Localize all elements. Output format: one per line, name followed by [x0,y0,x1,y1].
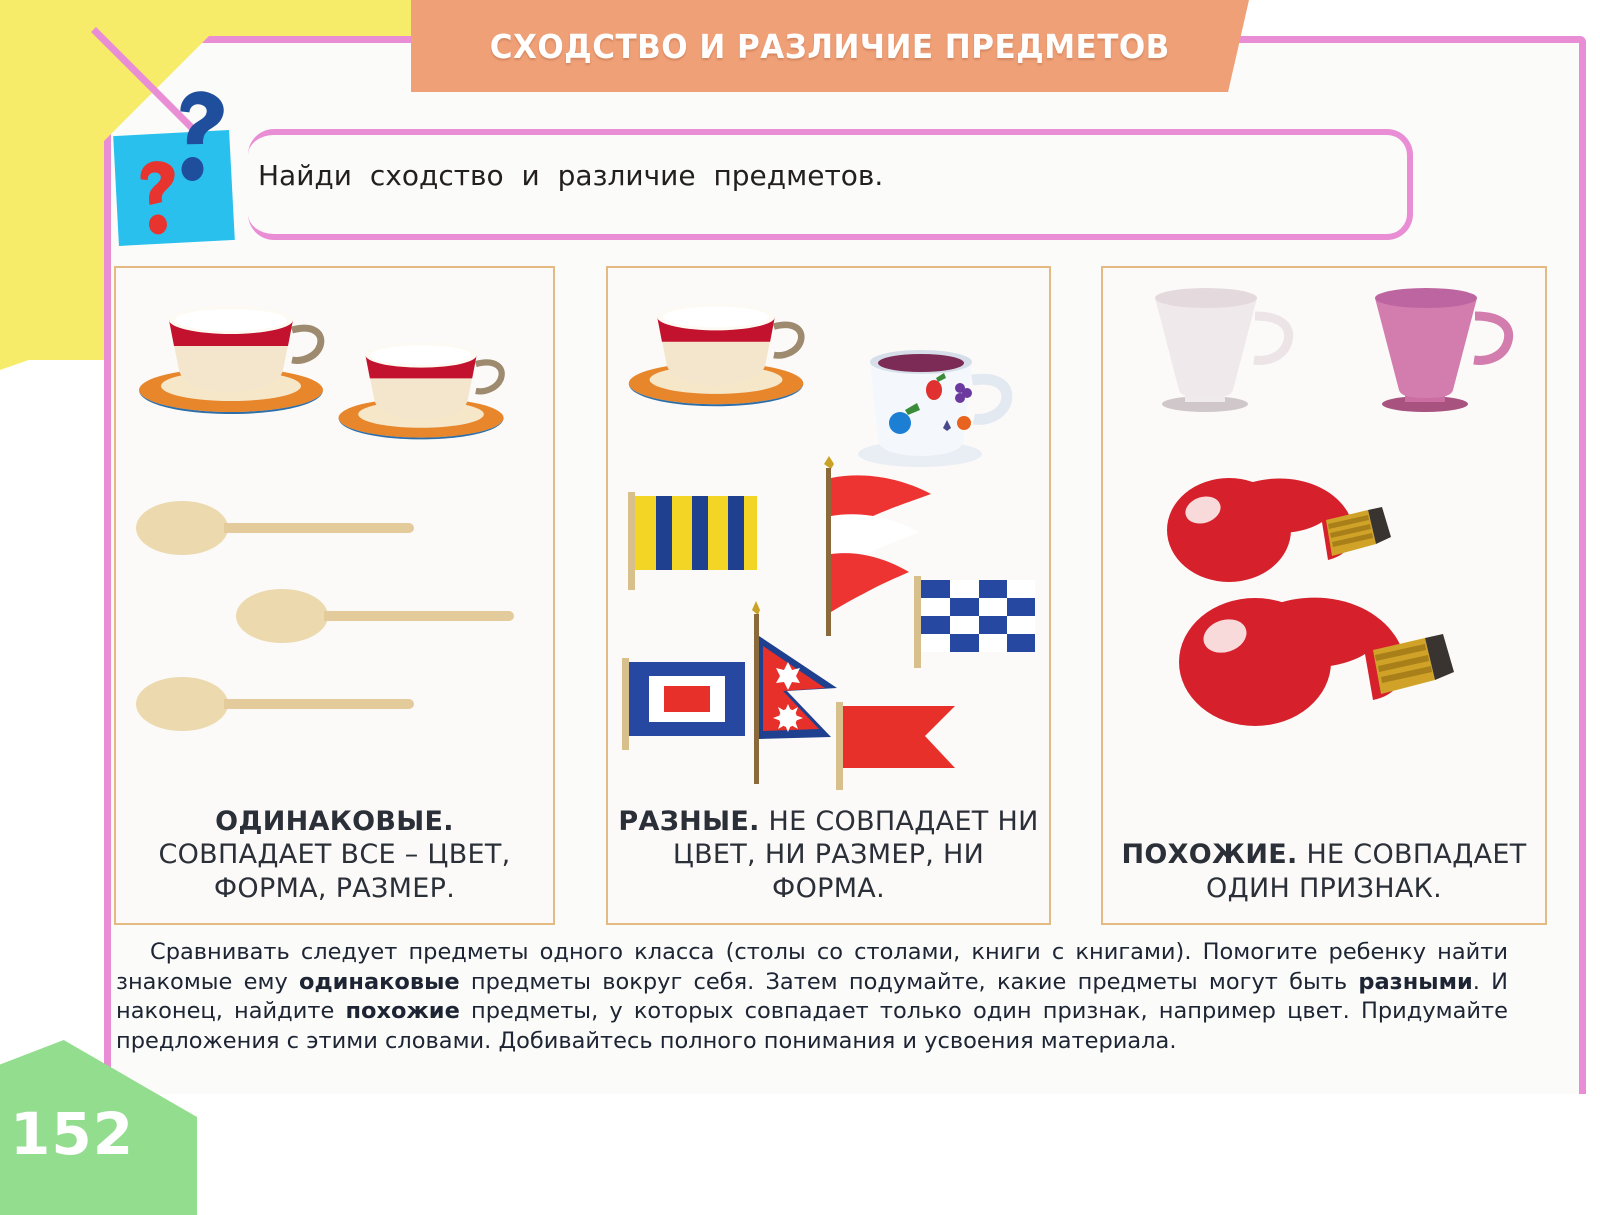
caption-keyword: ПОХОЖИЕ. [1121,839,1297,870]
panel-similar-art [1103,268,1545,773]
red-light-bulb-small [1141,468,1421,603]
red-question-mark-icon [130,155,195,237]
caption-body: СОВПАДАЕТ ВСЕ – ЦВЕТ, ФОРМА, РАЗМЕР. [158,839,510,903]
panel-different-caption: РАЗНЫЕ. НЕ СОВПАДАЕТ НИ ЦВЕТ, НИ РАЗМЕР,… [608,805,1049,905]
header-banner: СХОДСТВО И РАЗЛИЧИЕ ПРЕДМЕТОВ [411,0,1249,92]
footer-part-2: предметы вокруг себя. Затем подумайте, к… [460,969,1359,995]
panel-different-art [608,268,1049,773]
wooden-spoon [234,586,519,646]
teacup-with-saucer [334,318,509,446]
footer-bold-similar: похожие [345,998,459,1024]
instruction-text: Найди сходство и различие предметов. [258,159,883,192]
panel-identical: ОДИНАКОВЫЕ. СОВПАДАЕТ ВСЕ – ЦВЕТ, ФОРМА,… [114,266,555,925]
panel-identical-art [116,268,553,773]
caption-keyword: РАЗНЫЕ. [618,806,759,837]
berry-patterned-mug [848,328,1018,473]
page-title: СХОДСТВО И РАЗЛИЧИЕ ПРЕДМЕТОВ [490,27,1170,66]
panel-similar-caption: ПОХОЖИЕ. НЕ СОВПАДАЕТ ОДИН ПРИЗНАК. [1103,838,1545,905]
pink-teacup [1353,282,1518,417]
page-bottom-margin [0,1094,1600,1201]
panel-identical-caption: ОДИНАКОВЫЕ. СОВПАДАЕТ ВСЕ – ЦВЕТ, ФОРМА,… [116,805,553,905]
white-teacup [1133,282,1298,417]
footer-note: Сравнивать следует предметы одного класс… [116,938,1508,1057]
caption-keyword: ОДИНАКОВЫЕ. [215,806,454,837]
striped-flag [620,486,770,596]
panel-different: РАЗНЫЕ. НЕ СОВПАДАЕТ НИ ЦВЕТ, НИ РАЗМЕР,… [606,266,1051,925]
wooden-spoon [134,498,419,558]
page-number: 152 [10,1100,134,1168]
teacup-with-saucer [134,280,329,420]
red-pennant-flag [830,698,970,793]
panel-similar: ПОХОЖИЕ. НЕ СОВПАДАЕТ ОДИН ПРИЗНАК. [1101,266,1547,925]
wooden-spoon [134,674,419,734]
red-light-bulb-large [1151,586,1481,761]
footer-bold-identical: одинаковые [299,969,460,995]
footer-bold-different: разными [1358,969,1472,995]
checkered-flag [908,568,1043,673]
teacup-with-saucer [624,278,809,413]
